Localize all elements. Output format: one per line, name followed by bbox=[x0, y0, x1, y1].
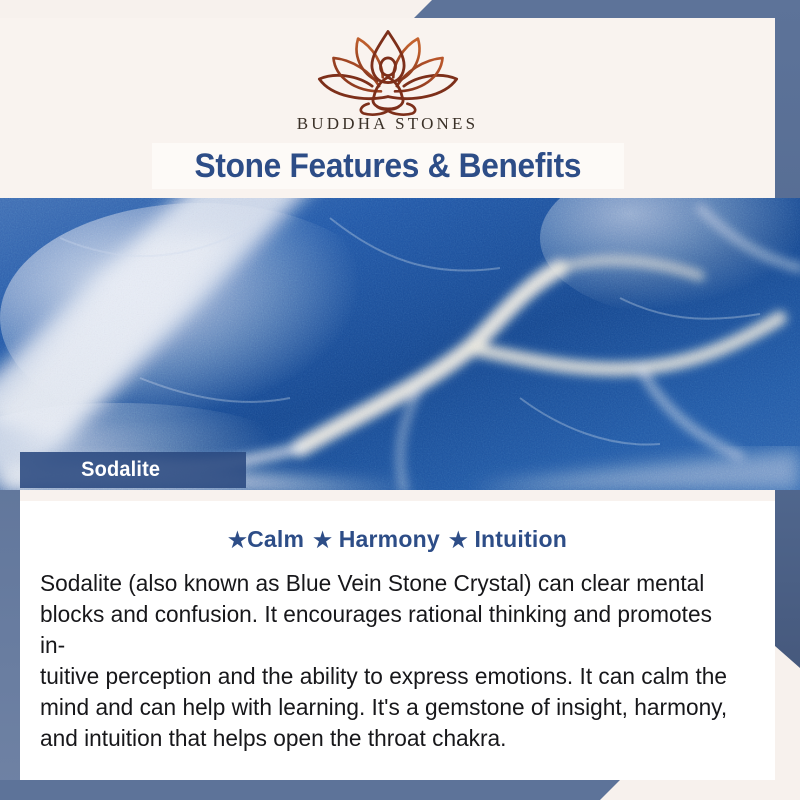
decor-bar-top-right bbox=[414, 0, 800, 18]
star-icon-2: ★ bbox=[313, 529, 332, 552]
description-line: blocks and confusion. It encourages rati… bbox=[40, 599, 730, 661]
description-line: Sodalite (also known as Blue Vein Stone … bbox=[40, 568, 730, 599]
star-icon-3: ★ bbox=[449, 529, 468, 552]
description-line: tuitive perception and the ability to ex… bbox=[40, 661, 730, 692]
keyword-intuition: Intuition bbox=[474, 526, 567, 552]
star-icon-1: ★ bbox=[228, 529, 247, 552]
stone-description: Sodalite (also known as Blue Vein Stone … bbox=[40, 568, 730, 754]
header-panel: BUDDHA STONES Stone Features & Benefits bbox=[0, 18, 775, 198]
keyword-row: ★Calm★ Harmony★ Intuition bbox=[20, 526, 775, 553]
lotus-meditation-logo-icon bbox=[293, 26, 483, 118]
stone-name: Sodalite bbox=[81, 458, 160, 482]
description-line: and intuition that helps open the throat… bbox=[40, 723, 730, 754]
stone-photo bbox=[0, 198, 800, 490]
infographic-card: BUDDHA STONES Stone Features & Benefits bbox=[0, 0, 800, 800]
decor-bar-bottom bbox=[0, 780, 620, 800]
page-title: Stone Features & Benefits bbox=[194, 147, 581, 186]
description-line: mind and can help with learning. It's a … bbox=[40, 692, 730, 723]
content-top-strip bbox=[20, 490, 775, 501]
title-plate: Stone Features & Benefits bbox=[152, 143, 624, 189]
keyword-harmony: Harmony bbox=[339, 526, 440, 552]
stone-name-bar: Sodalite bbox=[20, 452, 246, 488]
brand-name: BUDDHA STONES bbox=[297, 114, 479, 134]
content-panel: ★Calm★ Harmony★ Intuition Sodalite (also… bbox=[20, 490, 775, 780]
keyword-calm: Calm bbox=[247, 526, 304, 552]
